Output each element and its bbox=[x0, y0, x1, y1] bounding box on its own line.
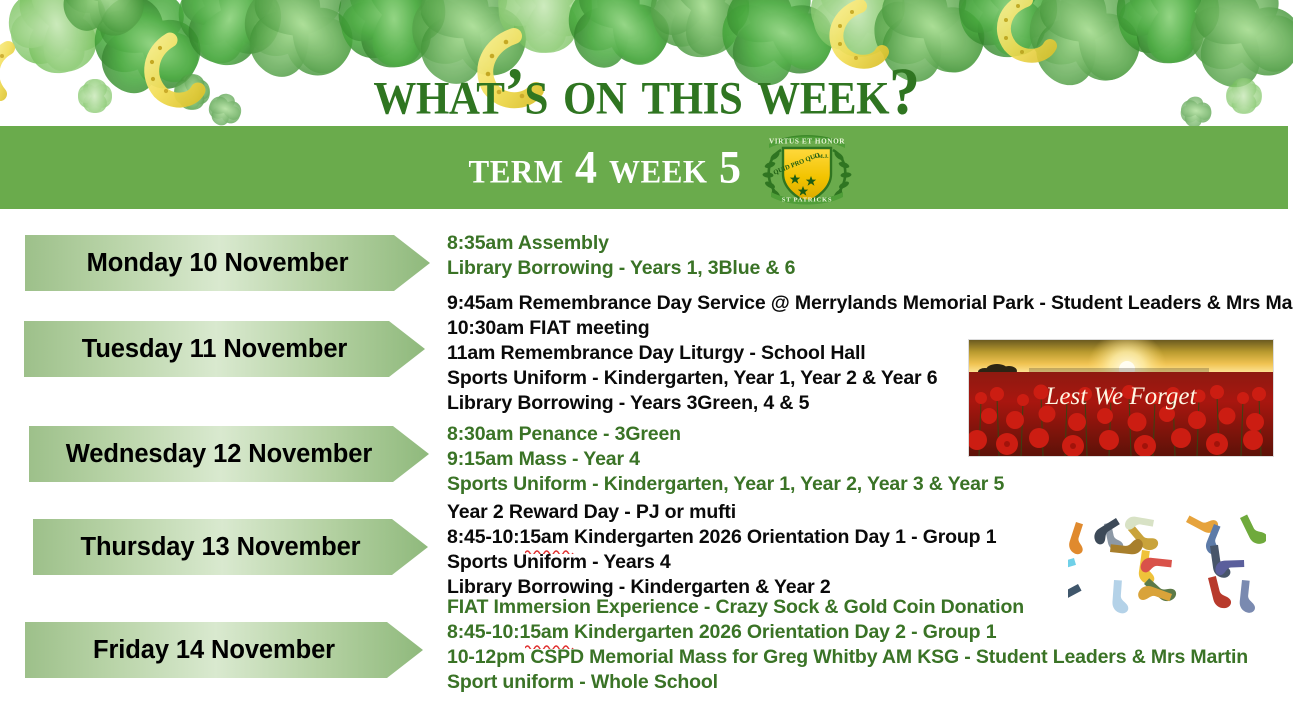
event-line: Year 2 Reward Day - PJ or mufti bbox=[447, 500, 996, 525]
crest-motto-bottom: ST PATRICKS bbox=[782, 196, 832, 203]
event-line: Library Borrowing - Years 1, 3Blue & 6 bbox=[447, 256, 795, 281]
horseshoe-icon bbox=[0, 48, 8, 94]
squiggle-icon bbox=[525, 549, 621, 554]
event-line: Sports Uniform - Kindergarten, Year 1, Y… bbox=[447, 472, 1004, 497]
event-text: 8:45-10:15am Kindergarten 2026 Orientati… bbox=[447, 526, 996, 548]
event-line: 8:30am Penance - 3Green bbox=[447, 422, 1004, 447]
event-line: 9:45am Remembrance Day Service @ Merryla… bbox=[447, 291, 1293, 316]
day-arrow-wednesday[interactable]: Wednesday 12 November bbox=[29, 426, 429, 482]
lest-we-forget-poppy-field-image: Lest We Forget bbox=[968, 339, 1274, 457]
events-monday: 8:35am Assembly Library Borrowing - Year… bbox=[447, 231, 795, 281]
events-thursday: Year 2 Reward Day - PJ or mufti 8:45-10:… bbox=[447, 500, 996, 600]
shamrock-border-art bbox=[0, 0, 1293, 126]
term-week-title: Term 4 Week 5 bbox=[469, 143, 742, 191]
event-line: 9:15am Mass - Year 4 bbox=[447, 447, 1004, 472]
event-line: Sport uniform - Whole School bbox=[447, 670, 1248, 695]
event-line: 8:35am Assembly bbox=[447, 231, 795, 256]
day-arrow-friday[interactable]: Friday 14 November bbox=[25, 622, 423, 678]
day-label-monday: Monday 10 November bbox=[35, 249, 430, 278]
spellcheck-underline: 8:45-10:15am Kindergarten 2026 Orientati… bbox=[447, 620, 996, 645]
day-arrow-monday[interactable]: Monday 10 November bbox=[25, 235, 430, 291]
day-label-tuesday: Tuesday 11 November bbox=[34, 335, 425, 364]
day-label-friday: Friday 14 November bbox=[35, 636, 423, 665]
day-label-thursday: Thursday 13 November bbox=[43, 533, 428, 562]
event-line: 8:45-10:15am Kindergarten 2026 Orientati… bbox=[447, 525, 996, 550]
lest-we-forget-caption: Lest We Forget bbox=[1045, 383, 1198, 410]
day-arrow-thursday[interactable]: Thursday 13 November bbox=[33, 519, 428, 575]
crazy-socks-image bbox=[1068, 508, 1266, 616]
poppy-field-art: Lest We Forget bbox=[969, 340, 1273, 456]
squiggle-icon bbox=[525, 644, 621, 649]
term-banner-inner: Term 4 Week 5 bbox=[469, 128, 860, 208]
event-line: 10:30am FIAT meeting bbox=[447, 316, 1293, 341]
events-wednesday: 8:30am Penance - 3Green 9:15am Mass - Ye… bbox=[447, 422, 1004, 497]
day-arrow-tuesday[interactable]: Tuesday 11 November bbox=[24, 321, 425, 377]
whats-on-this-week-poster: What’s On This Week? Term 4 Week 5 bbox=[0, 0, 1293, 720]
term-banner: Term 4 Week 5 bbox=[0, 126, 1288, 209]
spellcheck-underline: 8:45-10:15am Kindergarten 2026 Orientati… bbox=[447, 525, 996, 550]
crazy-socks-art bbox=[1068, 508, 1266, 616]
event-line: 8:45-10:15am Kindergarten 2026 Orientati… bbox=[447, 620, 1248, 645]
st-patricks-school-crest: VIRTUS ET HONOR QUID PRO QUO J.M.J. ST P bbox=[755, 128, 859, 208]
crest-motto-top: VIRTUS ET HONOR bbox=[769, 137, 845, 145]
weekly-schedule: Monday 10 November 8:35am Assembly Libra… bbox=[0, 209, 1293, 720]
event-text: 8:45-10:15am Kindergarten 2026 Orientati… bbox=[447, 621, 996, 643]
crest-shield-initials: J.M.J. bbox=[814, 154, 830, 160]
shamrock-horseshoe-border bbox=[0, 0, 1293, 126]
day-label-wednesday: Wednesday 12 November bbox=[39, 440, 429, 469]
